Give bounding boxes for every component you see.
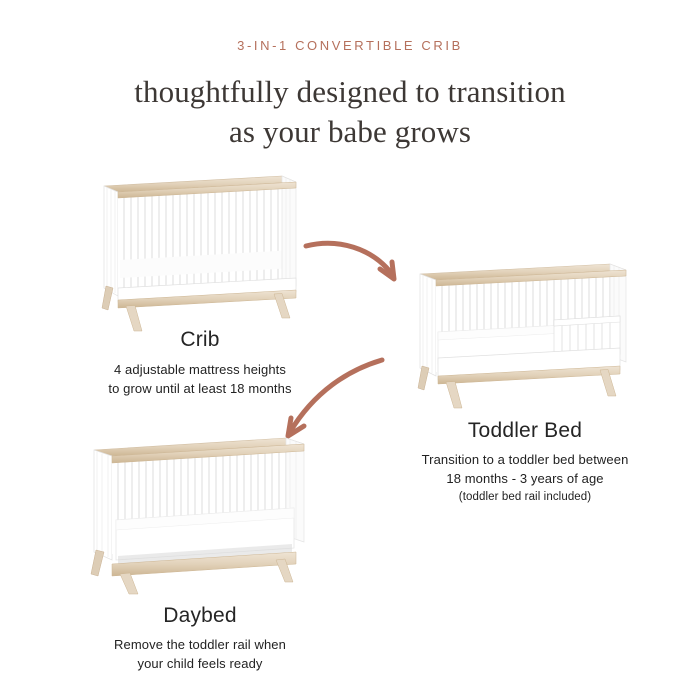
toddler-bed-illustration xyxy=(404,258,638,413)
stage-body-daybed: Remove the toddler rail when your child … xyxy=(55,635,345,673)
toddler-body-line-2: 18 months - 3 years of age xyxy=(446,471,603,486)
daybed-body-line-1: Remove the toddler rail when xyxy=(114,637,286,652)
stage-title-daybed: Daybed xyxy=(60,604,340,628)
stage-body-toddler-bed: Transition to a toddler bed between 18 m… xyxy=(370,450,680,507)
page-title: thoughtfully designed to transition as y… xyxy=(0,72,700,152)
headline-line-1: thoughtfully designed to transition xyxy=(134,74,565,109)
daybed-body-line-2: your child feels ready xyxy=(137,656,262,671)
daybed-illustration xyxy=(80,424,316,596)
curved-arrow-icon-crib-to-toddler xyxy=(300,232,420,294)
crib-illustration xyxy=(86,168,308,333)
eyebrow-label: 3-IN-1 CONVERTIBLE CRIB xyxy=(0,38,700,53)
headline-line-2: as your babe grows xyxy=(0,112,700,152)
stage-body-crib: 4 adjustable mattress heights to grow un… xyxy=(60,360,340,398)
product-infographic: 3-IN-1 CONVERTIBLE CRIB thoughtfully des… xyxy=(0,0,700,700)
crib-body-line-1: 4 adjustable mattress heights xyxy=(114,362,286,377)
toddler-body-note: (toddler bed rail included) xyxy=(370,488,680,507)
crib-body-line-2: to grow until at least 18 months xyxy=(108,381,291,396)
toddler-body-line-1: Transition to a toddler bed between xyxy=(422,452,629,467)
stage-title-toddler-bed: Toddler Bed xyxy=(380,419,670,443)
stage-title-crib: Crib xyxy=(60,328,340,352)
